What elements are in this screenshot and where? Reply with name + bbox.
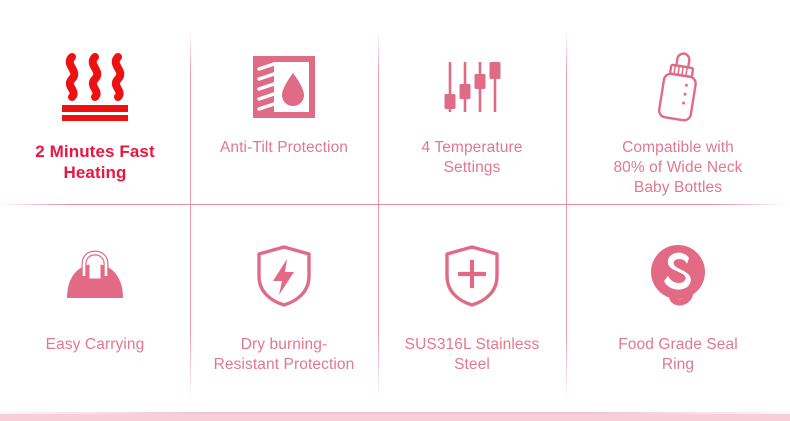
feature-label-easy-carrying: Easy Carrying: [38, 335, 153, 355]
feature-highlights-banner: 2 Minutes Fast Heating: [0, 0, 790, 421]
row-divider: [0, 204, 790, 205]
feature-label-temperature-settings: 4 Temperature Settings: [414, 138, 531, 178]
feature-label-dry-burn-resistant: Dry burning- Resistant Protection: [206, 335, 363, 375]
feature-cell-food-grade-seal: Food Grade Seal Ring: [566, 205, 790, 400]
feature-label-food-grade-seal: Food Grade Seal Ring: [610, 335, 746, 375]
shield-plus-icon: [441, 235, 503, 317]
bottom-accent-bar: [0, 414, 790, 421]
column-divider-1: [190, 30, 191, 400]
feature-grid: 2 Minutes Fast Heating: [0, 0, 790, 400]
column-divider-2: [378, 30, 379, 400]
feature-cell-dry-burn-resistant: Dry burning- Resistant Protection: [190, 205, 378, 400]
feature-cell-temperature-settings: 4 Temperature Settings: [378, 0, 566, 205]
feature-label-anti-tilt: Anti-Tilt Protection: [212, 138, 356, 158]
baby-bottle-icon: [649, 48, 707, 126]
water-droplet-square-icon: [252, 48, 316, 126]
feature-label-fast-heating: 2 Minutes Fast Heating: [27, 142, 162, 183]
feature-cell-bottle-compatibility: Compatible with 80% of Wide Neck Baby Bo…: [566, 0, 790, 205]
heat-waves-icon: [52, 48, 138, 126]
shield-bolt-icon: [253, 235, 315, 317]
handbag-icon: [59, 235, 131, 317]
feature-label-bottle-compatibility: Compatible with 80% of Wide Neck Baby Bo…: [605, 138, 750, 197]
feature-cell-anti-tilt: Anti-Tilt Protection: [190, 0, 378, 205]
feature-cell-fast-heating: 2 Minutes Fast Heating: [0, 0, 190, 205]
qs-seal-icon: [645, 235, 711, 317]
sliders-icon: [441, 48, 503, 126]
feature-cell-stainless-steel: SUS316L Stainless Steel: [378, 205, 566, 400]
feature-cell-easy-carrying: Easy Carrying: [0, 205, 190, 400]
column-divider-3: [566, 30, 567, 400]
feature-label-stainless-steel: SUS316L Stainless Steel: [397, 335, 548, 375]
